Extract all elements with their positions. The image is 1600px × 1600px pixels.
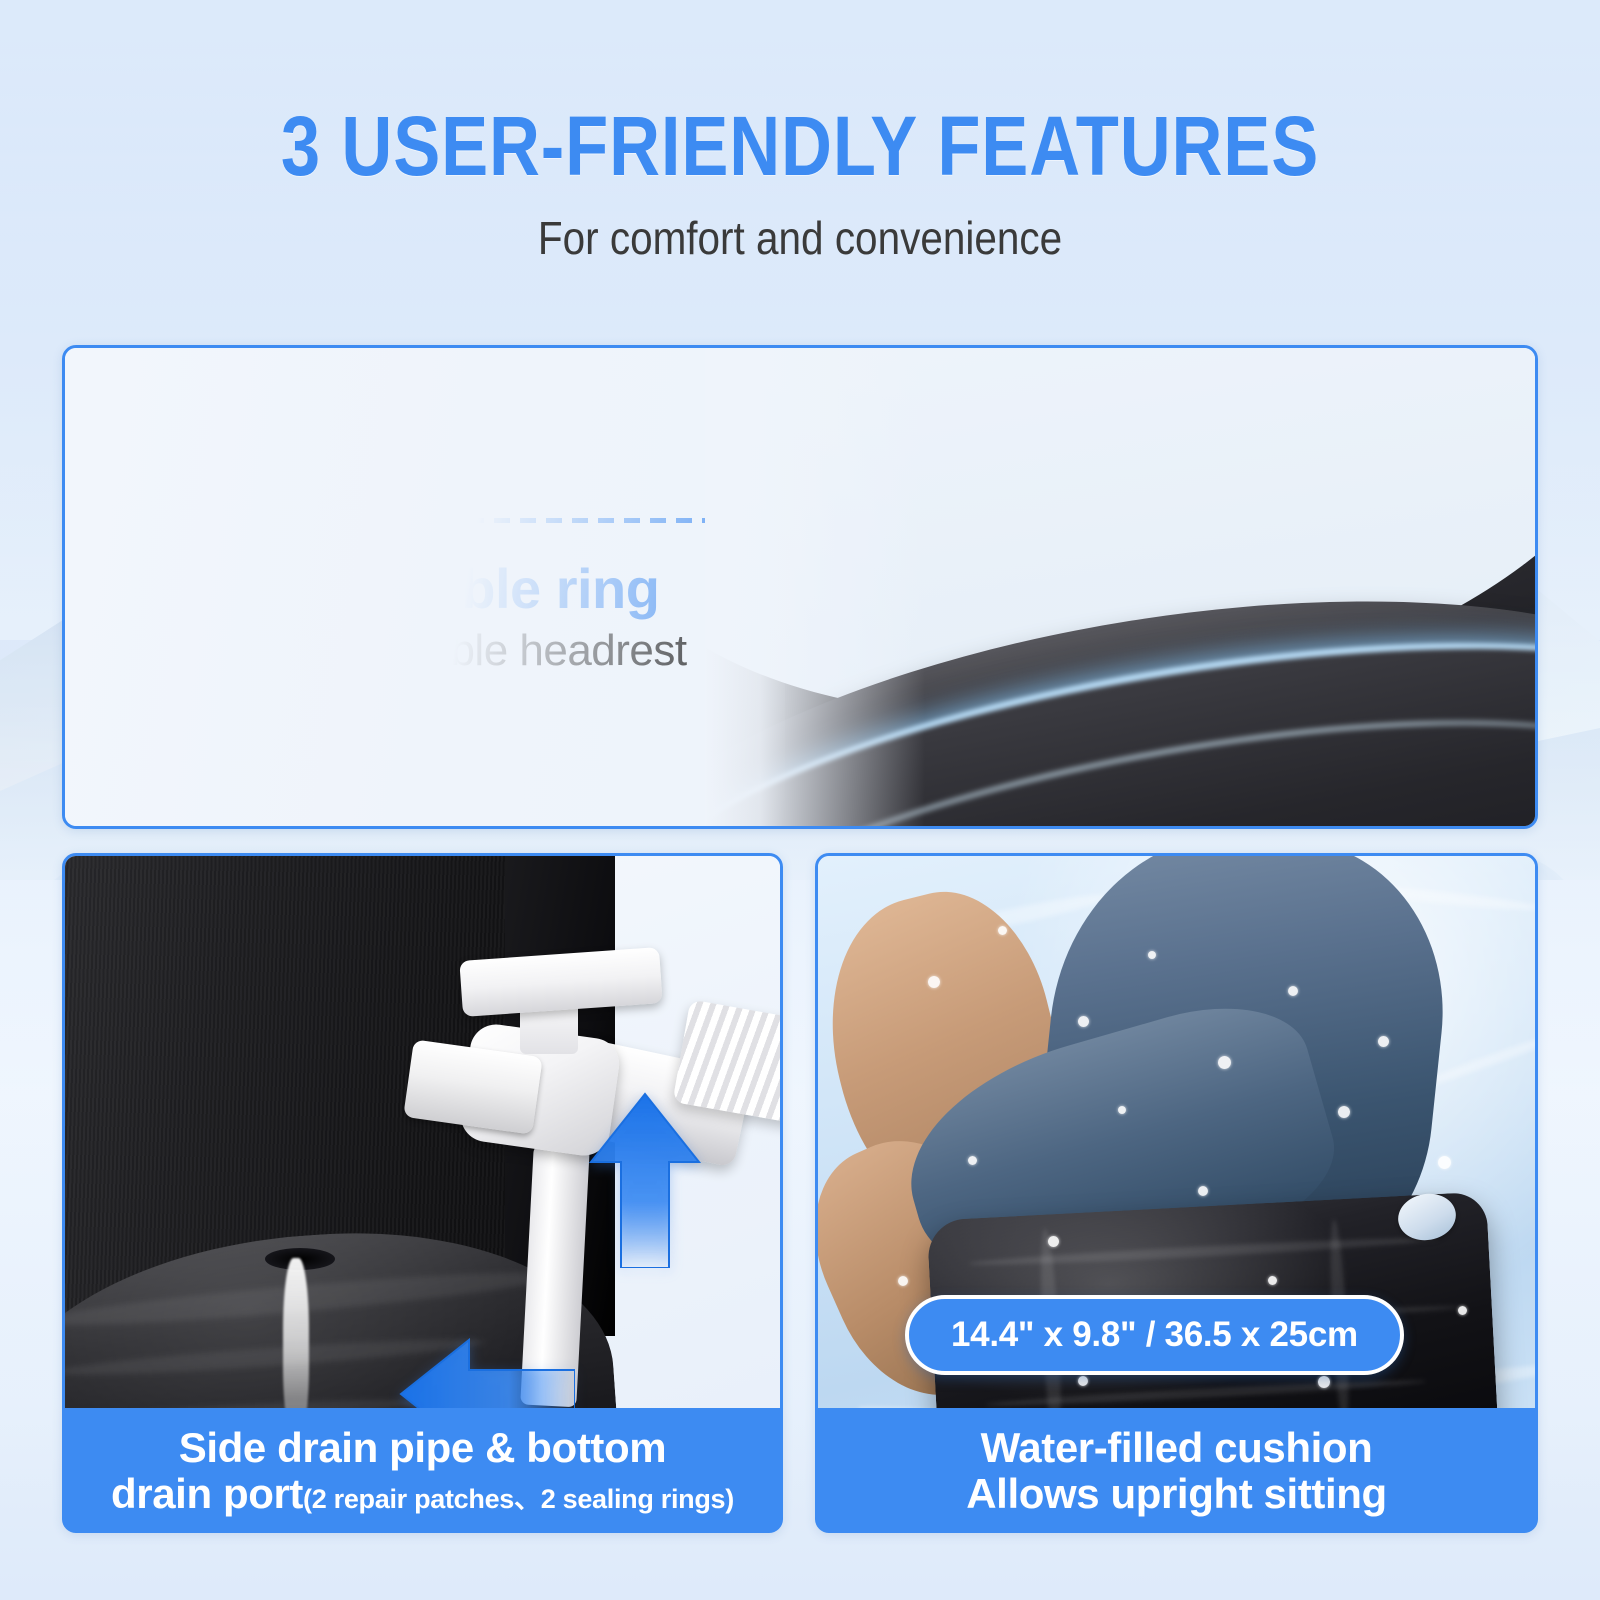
up-arrow-icon xyxy=(585,1088,705,1268)
caption-water-cushion: Water-filled cushion Allows upright sitt… xyxy=(815,1408,1538,1533)
caption-left-line2-bold: drain port xyxy=(111,1471,303,1516)
caption-right-line1: Water-filled cushion xyxy=(981,1425,1373,1470)
caption-left-line1: Side drain pipe & bottom xyxy=(179,1425,666,1470)
page-subtitle: For comfort and convenience xyxy=(96,211,1504,265)
feature-panel-inflatable-ring: 0.02" / 0.45 mm Thick inflatable ring Le… xyxy=(62,345,1538,829)
header: 3 USER-FRIENDLY FEATURES For comfort and… xyxy=(0,0,1600,310)
caption-drain-pipe: Side drain pipe & bottom drain port (2 r… xyxy=(62,1408,783,1533)
caption-left-line2-detail: (2 repair patches、2 sealing rings) xyxy=(303,1477,734,1516)
size-badge: 14.4" x 9.8" / 36.5 x 25cm xyxy=(905,1295,1404,1375)
page-title: 3 USER-FRIENDLY FEATURES xyxy=(128,98,1472,195)
top-panel-photo xyxy=(705,348,1538,826)
caption-right-line2: Allows upright sitting xyxy=(966,1471,1387,1516)
top-panel-text-area xyxy=(65,348,785,826)
caption-left-line2: drain port (2 repair patches、2 sealing r… xyxy=(111,1471,734,1516)
